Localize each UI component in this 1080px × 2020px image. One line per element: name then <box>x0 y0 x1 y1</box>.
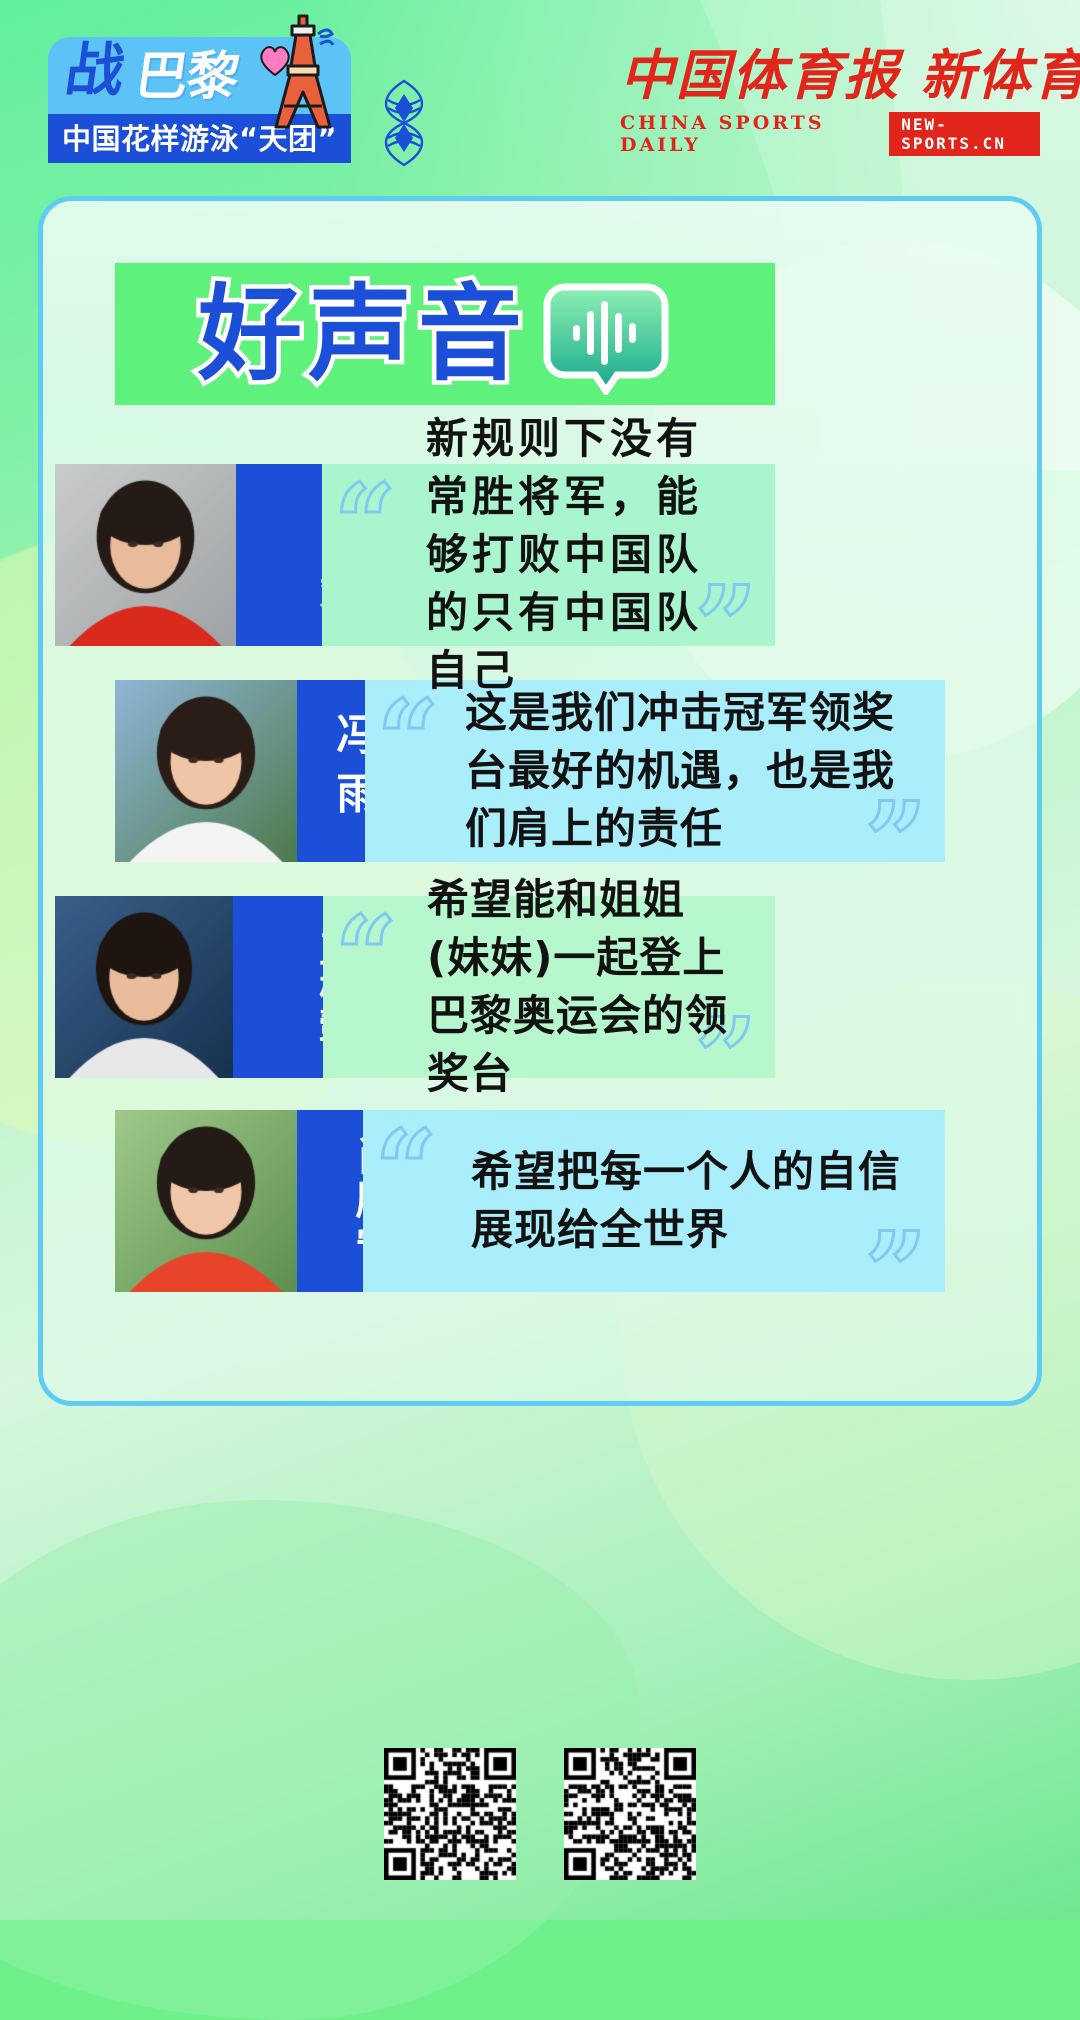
quote-body: “ ” 希望能和姐姐(妹妹)一起登上巴黎奥运会的领奖台 <box>323 896 775 1078</box>
athlete-name-block: 主教练 张晓欢 <box>236 464 322 646</box>
name-columns: 冯雨 <box>287 712 375 830</box>
quote-card: 冯雨 “ ” 这是我们冲击冠军领奖台最好的机遇，也是我们肩上的责任 <box>115 680 945 862</box>
quote-card: 主教练 张晓欢 “ ” 新规则下没有常胜将军，能够打败中国队的只有中国队自己 <box>55 464 775 646</box>
page-header: 战 巴黎 中国花样游泳“天团” 中国体育报 新体育 <box>0 0 1080 200</box>
qr-code-right[interactable] <box>564 1748 696 1880</box>
quote-body: “ ” 新规则下没有常胜将军，能够打败中国队的只有中国队自己 <box>322 464 775 646</box>
athlete-photo <box>55 464 236 646</box>
masthead-site-tag: NEW-SPORTS.CN <box>889 112 1040 156</box>
artistic-swimming-wave-icon <box>368 78 440 168</box>
eiffel-tower-icon <box>268 14 338 134</box>
quote-text: 希望能和姐姐(妹妹)一起登上巴黎奥运会的领奖台 <box>323 871 775 1103</box>
masthead-chinese-title: 中国体育报 新体育 <box>620 48 1040 102</box>
athlete-photo <box>115 1110 297 1292</box>
quote-body: “ ” 希望把每一个人的自信展现给全世界 <box>363 1110 945 1292</box>
quote-body: “ ” 这是我们冲击冠军领奖台最好的机遇，也是我们肩上的责任 <box>365 680 945 862</box>
athlete-photo <box>55 896 233 1078</box>
logo-bali-characters: 巴黎 <box>132 51 241 103</box>
quote-text: 新规则下没有常胜将军，能够打败中国队的只有中国队自己 <box>322 410 775 700</box>
logo-zhan-character: 战 <box>62 41 126 99</box>
voice-waveform-bubble-icon <box>543 283 669 395</box>
quote-text: 这是我们冲击冠军领奖台最好的机遇，也是我们肩上的责任 <box>365 684 945 858</box>
athlete-name-block: 肖雁宁 <box>297 1110 363 1292</box>
page-title: 好声音 <box>198 275 528 393</box>
athlete-name-block: 王芊懿 王柳懿 <box>233 896 323 1078</box>
qr-code-row <box>0 1748 1080 1880</box>
quote-text: 希望把每一个人的自信展现给全世界 <box>363 1143 945 1259</box>
quote-card: 王芊懿 王柳懿 “ ” 希望能和姐姐(妹妹)一起登上巴黎奥运会的领奖台 <box>55 896 775 1078</box>
athlete-photo <box>115 680 297 862</box>
quote-card: 肖雁宁 “ ” 希望把每一个人的自信展现给全世界 <box>115 1110 945 1292</box>
athlete-name-block: 冯雨 <box>297 680 365 862</box>
newspaper-masthead: 中国体育报 新体育 CHINA SPORTS DAILY NEW-SPORTS.… <box>620 48 1040 163</box>
masthead-english-row: CHINA SPORTS DAILY NEW-SPORTS.CN <box>620 112 1040 156</box>
masthead-english-title: CHINA SPORTS DAILY <box>620 112 867 156</box>
qr-code-left[interactable] <box>384 1748 516 1880</box>
